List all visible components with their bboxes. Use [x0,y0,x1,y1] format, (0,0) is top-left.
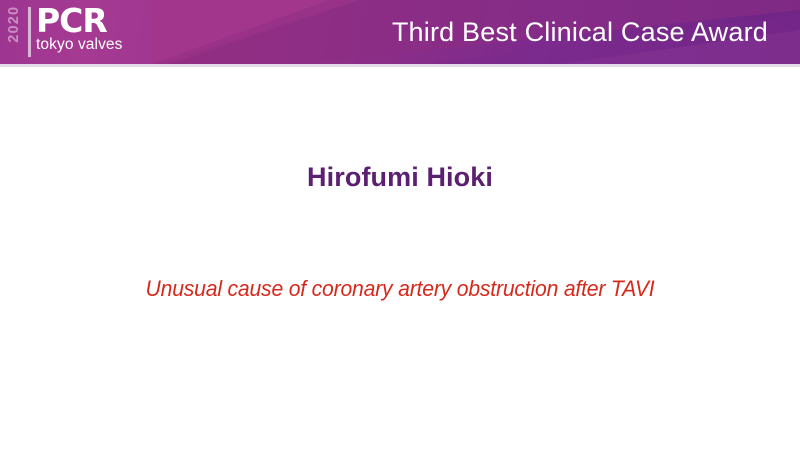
award-slide: 2020 PCR tokyo valves Third Best Clinica… [0,0,800,450]
pcr-logo: 2020 PCR tokyo valves [0,0,152,64]
logo-tagline-label: tokyo valves [36,37,148,53]
slide-body: Hirofumi Hioki Unusual cause of coronary… [0,67,800,450]
logo-year-label: 2020 [7,1,22,47]
logo-wordmark: PCR tokyo valves [36,5,148,53]
award-title: Third Best Clinical Case Award [392,0,768,64]
slide-header: 2020 PCR tokyo valves Third Best Clinica… [0,0,800,64]
presenter-name: Hirofumi Hioki [0,162,800,193]
case-title: Unusual cause of coronary artery obstruc… [24,276,776,302]
logo-brand-label: PCR [36,5,148,36]
logo-divider [28,7,31,57]
